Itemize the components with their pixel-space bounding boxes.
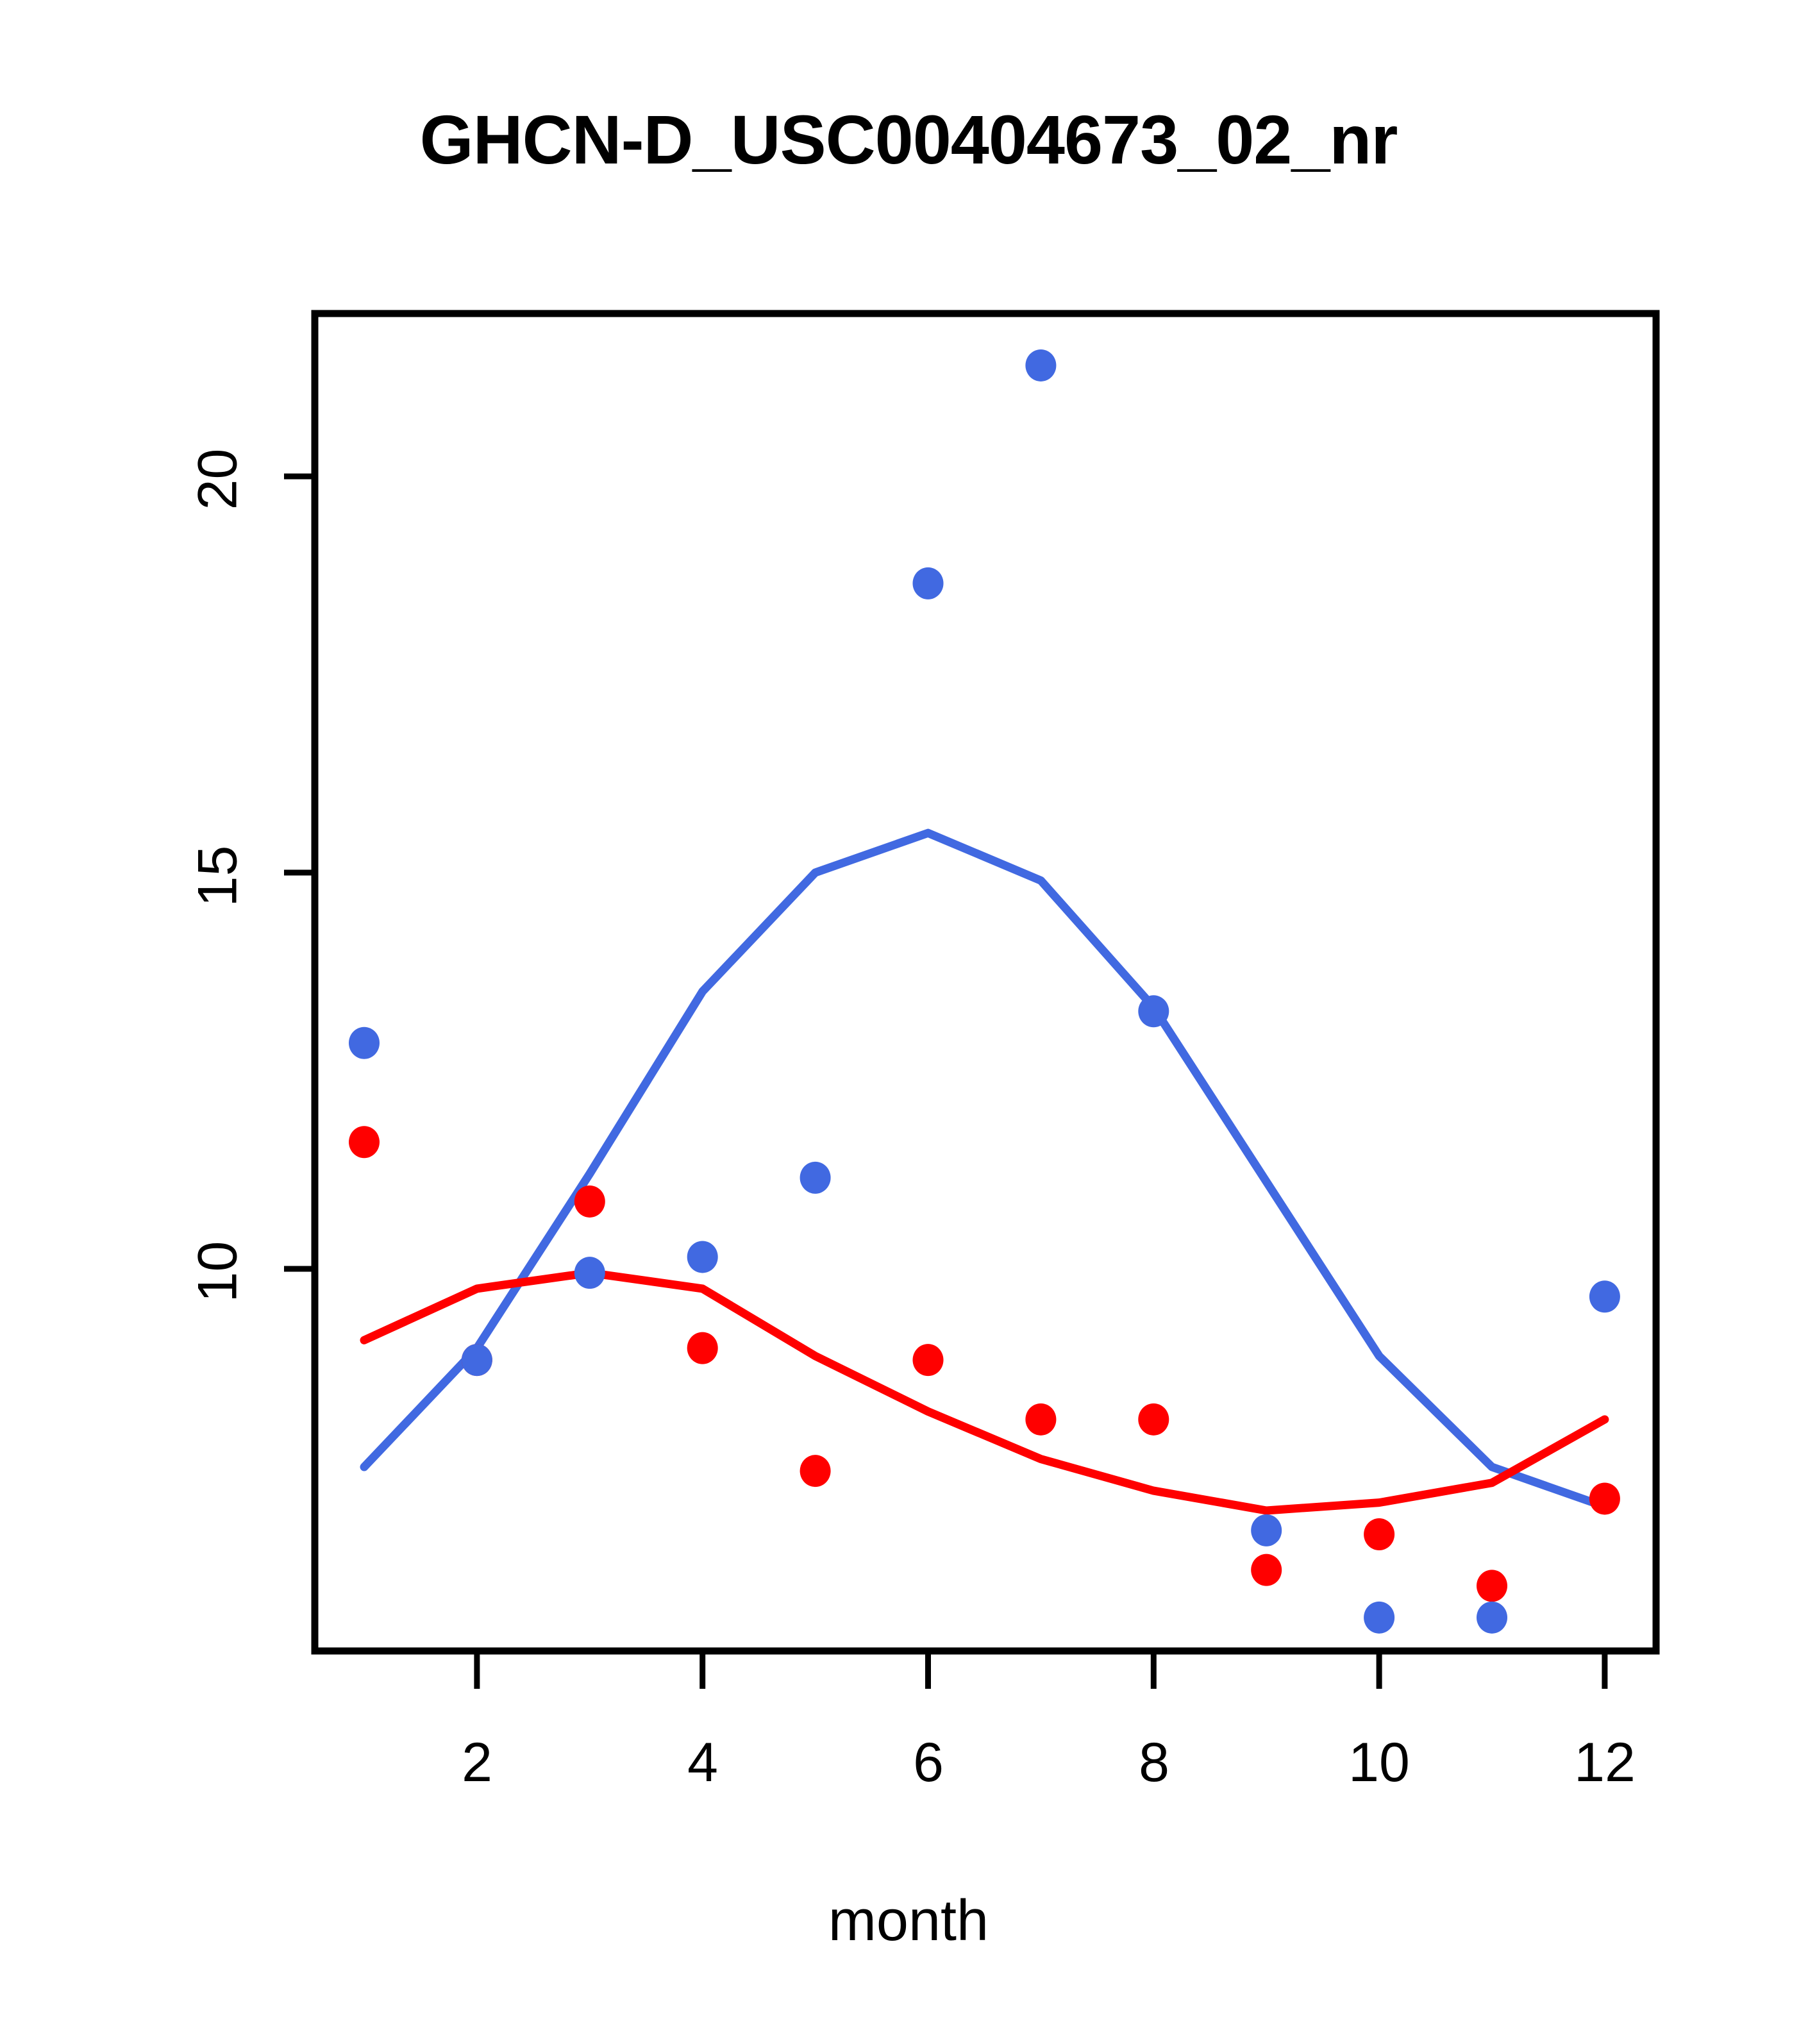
plot-box-frame <box>315 314 1656 1651</box>
data-point <box>687 1332 718 1364</box>
r-plot-figure: GHCN-D_USC00404673_02_nr 20 15 10 2 4 6 … <box>0 0 1817 2044</box>
data-point <box>349 1027 380 1059</box>
data-point <box>800 1455 831 1487</box>
data-point <box>913 567 944 599</box>
data-point <box>1138 995 1169 1027</box>
data-point <box>1251 1554 1282 1586</box>
y-axis-ticks <box>284 476 315 1269</box>
blue-data-points <box>349 349 1620 1634</box>
red-data-points <box>349 1126 1620 1602</box>
plot-canvas <box>0 0 1817 2044</box>
data-point <box>1364 1518 1394 1550</box>
data-point <box>1589 1482 1620 1514</box>
data-point <box>1589 1280 1620 1312</box>
blue-smooth-line <box>364 833 1605 1507</box>
data-point <box>1364 1602 1394 1634</box>
data-point <box>687 1241 718 1273</box>
data-point <box>1138 1403 1169 1436</box>
data-point <box>1477 1602 1507 1634</box>
data-point <box>1025 1403 1056 1436</box>
data-point <box>1477 1570 1507 1602</box>
blue-smooth-line <box>364 833 1605 1507</box>
data-point <box>574 1185 605 1218</box>
data-point <box>1251 1514 1282 1546</box>
data-point <box>800 1162 831 1194</box>
data-point <box>462 1344 492 1376</box>
x-axis-ticks <box>477 1651 1605 1689</box>
data-point <box>1025 349 1056 381</box>
data-point <box>574 1257 605 1289</box>
data-point <box>913 1344 944 1376</box>
data-point <box>349 1126 380 1158</box>
